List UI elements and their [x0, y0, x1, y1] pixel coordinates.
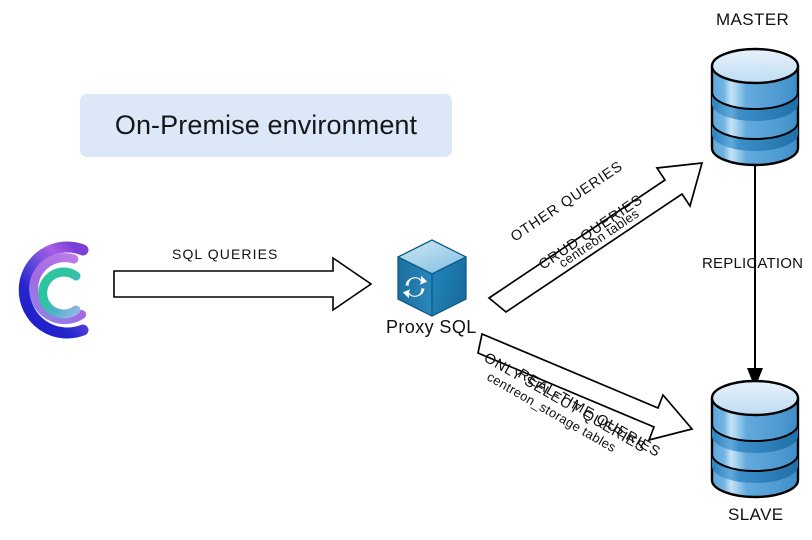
centreon-logo-icon	[24, 247, 83, 333]
master-label: MASTER	[716, 10, 789, 30]
diagram-canvas: On-Premise environment SQL QUERIES Proxy…	[0, 0, 812, 540]
slave-label: SLAVE	[728, 505, 784, 525]
on-premise-environment-label: On-Premise environment	[115, 110, 417, 141]
proxy-sql-cube-icon	[398, 240, 466, 316]
slave-database-icon	[712, 381, 798, 497]
on-premise-environment-box: On-Premise environment	[80, 94, 452, 157]
diagram-graphics	[0, 0, 812, 540]
replication-label: REPLICATION	[702, 255, 803, 272]
proxy-sql-label: Proxy SQL	[386, 317, 477, 338]
sql-queries-label: SQL QUERIES	[172, 246, 279, 262]
flow-sql-queries-arrow	[114, 258, 371, 310]
replication-arrow	[747, 166, 763, 388]
master-database-icon	[712, 49, 798, 165]
